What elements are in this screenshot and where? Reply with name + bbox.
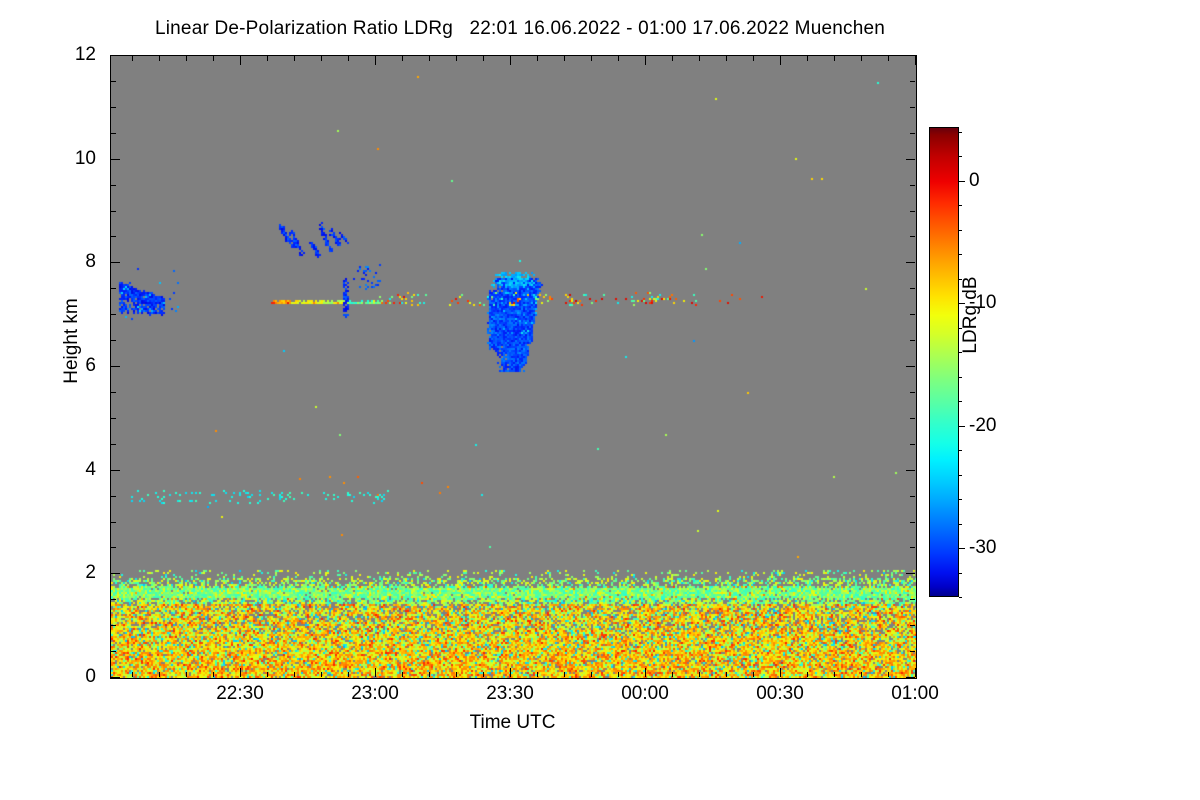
y-tick-minor	[111, 625, 116, 626]
x-tick-major-top	[915, 56, 916, 65]
colorbar-tick-minor	[959, 499, 962, 500]
y-tick-minor	[111, 418, 116, 419]
x-tick-minor-top	[321, 56, 322, 61]
x-tick-minor-top	[429, 56, 430, 61]
colorbar-tick-minor	[959, 573, 962, 574]
x-tick-major	[780, 668, 781, 677]
y-tick-minor	[111, 599, 116, 600]
y-tick-minor-right	[910, 625, 915, 626]
x-tick-minor	[861, 672, 862, 677]
x-tick-major	[375, 668, 376, 677]
y-tick-minor-right	[910, 651, 915, 652]
x-tick-minor	[753, 672, 754, 677]
y-tick-minor-right	[910, 418, 915, 419]
colorbar-tick-label: -30	[969, 538, 996, 557]
x-tick-minor-top	[456, 56, 457, 61]
y-tick-major-right	[906, 159, 915, 160]
colorbar-gradient	[929, 127, 959, 597]
y-tick-minor-right	[910, 392, 915, 393]
y-tick-minor-right	[910, 496, 915, 497]
chart-figure: Linear De-Polarization Ratio LDRg 22:01 …	[0, 0, 1200, 800]
y-tick-label: 4	[40, 460, 96, 479]
x-tick-minor-top	[699, 56, 700, 61]
x-tick-minor-top	[753, 56, 754, 61]
y-tick-minor	[111, 547, 116, 548]
colorbar-tick-minor	[959, 230, 962, 231]
x-tick-minor-top	[294, 56, 295, 61]
colorbar-tick-minor	[959, 205, 962, 206]
x-tick-minor	[537, 672, 538, 677]
x-tick-minor-top	[888, 56, 889, 61]
x-tick-minor	[267, 672, 268, 677]
y-tick-minor-right	[910, 81, 915, 82]
colorbar-tick-major	[959, 548, 965, 549]
colorbar-tick-minor	[959, 401, 962, 402]
colorbar-tick-minor	[959, 524, 962, 525]
x-tick-minor	[618, 672, 619, 677]
x-tick-minor	[888, 672, 889, 677]
y-tick-minor-right	[910, 133, 915, 134]
x-tick-minor-top	[834, 56, 835, 61]
colorbar-tick-minor	[959, 132, 962, 133]
y-tick-label: 0	[40, 667, 96, 686]
y-tick-minor-right	[910, 522, 915, 523]
x-tick-minor	[348, 672, 349, 677]
x-tick-major	[510, 668, 511, 677]
colorbar-tick-major	[959, 426, 965, 427]
x-tick-label: 23:30	[455, 684, 565, 703]
y-tick-major	[111, 573, 120, 574]
x-tick-minor	[132, 672, 133, 677]
x-tick-minor-top	[591, 56, 592, 61]
x-tick-minor-top	[213, 56, 214, 61]
x-tick-major	[240, 668, 241, 677]
x-tick-major-top	[375, 56, 376, 65]
y-tick-major-right	[906, 55, 915, 56]
x-tick-minor-top	[537, 56, 538, 61]
x-tick-major-top	[510, 56, 511, 65]
colorbar-tick-label: -20	[969, 416, 996, 435]
y-tick-major	[111, 262, 120, 263]
x-tick-minor	[672, 672, 673, 677]
y-tick-minor-right	[910, 211, 915, 212]
x-tick-label: 23:00	[320, 684, 430, 703]
y-tick-label: 6	[40, 356, 96, 375]
y-tick-major-right	[906, 677, 915, 678]
y-tick-minor-right	[910, 340, 915, 341]
x-tick-minor	[429, 672, 430, 677]
colorbar-tick-major	[959, 181, 965, 182]
y-tick-label: 10	[40, 149, 96, 168]
y-tick-major	[111, 159, 120, 160]
y-tick-minor	[111, 211, 116, 212]
x-tick-minor-top	[564, 56, 565, 61]
y-tick-minor-right	[910, 236, 915, 237]
colorbar-tick-minor	[959, 475, 962, 476]
y-tick-major-right	[906, 262, 915, 263]
x-tick-minor	[564, 672, 565, 677]
y-tick-major	[111, 55, 120, 56]
x-tick-minor-top	[618, 56, 619, 61]
x-tick-minor	[321, 672, 322, 677]
x-tick-minor-top	[186, 56, 187, 61]
plot-area[interactable]	[110, 55, 917, 679]
y-tick-minor	[111, 236, 116, 237]
x-tick-label: 01:00	[860, 684, 970, 703]
x-tick-minor	[807, 672, 808, 677]
y-tick-minor	[111, 133, 116, 134]
y-tick-major	[111, 677, 120, 678]
x-tick-minor-top	[483, 56, 484, 61]
colorbar-tick-minor	[959, 156, 962, 157]
x-tick-minor-top	[861, 56, 862, 61]
y-tick-minor	[111, 107, 116, 108]
x-tick-major-top	[240, 56, 241, 65]
x-tick-minor-top	[672, 56, 673, 61]
x-tick-minor-top	[726, 56, 727, 61]
y-tick-minor	[111, 651, 116, 652]
y-axis-label: Height km	[61, 261, 83, 421]
y-tick-major	[111, 366, 120, 367]
x-tick-major	[915, 668, 916, 677]
y-tick-major-right	[906, 366, 915, 367]
y-tick-minor	[111, 81, 116, 82]
y-tick-minor	[111, 522, 116, 523]
y-tick-minor	[111, 288, 116, 289]
x-tick-label: 00:00	[590, 684, 700, 703]
x-tick-minor-top	[348, 56, 349, 61]
x-tick-minor	[699, 672, 700, 677]
x-tick-minor	[186, 672, 187, 677]
x-tick-minor-top	[807, 56, 808, 61]
y-tick-minor-right	[910, 185, 915, 186]
x-tick-minor	[456, 672, 457, 677]
y-tick-minor	[111, 314, 116, 315]
x-tick-major-top	[645, 56, 646, 65]
x-tick-minor	[726, 672, 727, 677]
y-tick-minor-right	[910, 599, 915, 600]
y-tick-label: 8	[40, 252, 96, 271]
x-tick-major-top	[780, 56, 781, 65]
x-tick-minor-top	[132, 56, 133, 61]
colorbar-tick-label: 0	[969, 171, 980, 190]
y-tick-minor-right	[910, 547, 915, 548]
x-tick-minor-top	[267, 56, 268, 61]
y-tick-minor-right	[910, 444, 915, 445]
x-tick-minor-top	[159, 56, 160, 61]
y-tick-minor	[111, 392, 116, 393]
y-tick-minor	[111, 340, 116, 341]
y-tick-minor	[111, 444, 116, 445]
y-tick-minor	[111, 185, 116, 186]
x-tick-minor	[159, 672, 160, 677]
x-tick-major	[645, 668, 646, 677]
x-tick-label: 22:30	[185, 684, 295, 703]
x-tick-minor	[834, 672, 835, 677]
heatmap-canvas	[111, 56, 916, 678]
y-tick-label: 12	[40, 45, 96, 64]
y-tick-minor-right	[910, 288, 915, 289]
y-tick-minor-right	[910, 107, 915, 108]
colorbar-title: LDRg dB	[960, 245, 982, 385]
colorbar[interactable]: 0-10-20-30	[929, 127, 959, 597]
x-tick-minor	[402, 672, 403, 677]
colorbar-tick-minor	[959, 597, 962, 598]
x-axis-label: Time UTC	[110, 712, 915, 734]
x-tick-minor	[591, 672, 592, 677]
y-tick-minor-right	[910, 314, 915, 315]
y-tick-major-right	[906, 470, 915, 471]
x-tick-minor	[213, 672, 214, 677]
y-tick-label: 2	[40, 563, 96, 582]
y-tick-major-right	[906, 573, 915, 574]
chart-title: Linear De-Polarization Ratio LDRg 22:01 …	[0, 18, 1040, 40]
y-tick-minor	[111, 496, 116, 497]
y-tick-major	[111, 470, 120, 471]
x-tick-label: 00:30	[725, 684, 835, 703]
x-tick-minor-top	[402, 56, 403, 61]
x-tick-minor	[483, 672, 484, 677]
colorbar-tick-minor	[959, 450, 962, 451]
x-tick-minor	[294, 672, 295, 677]
